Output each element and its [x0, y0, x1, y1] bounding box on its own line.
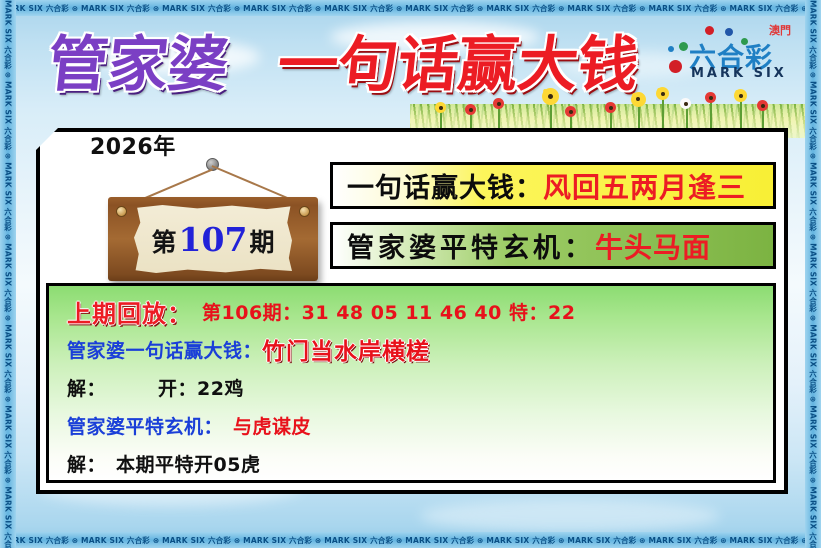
flower-red [493, 98, 504, 109]
row-tip-history: 管家婆平特玄机：与虎谋皮 [49, 406, 773, 444]
flower-red [465, 104, 476, 115]
cloud-decoration [420, 500, 720, 532]
tip-answer-value: 本期平特开05虎 [116, 450, 260, 477]
logo-dot-red [669, 60, 682, 73]
row-tip-answer: 解：本期平特开05虎 [49, 444, 773, 482]
banner-slogan-label: 一句话赢大钱： [333, 166, 543, 205]
mark-six-logo: 澳門 六合彩 MARK SIX [667, 20, 795, 86]
banner-slogan: 一句话赢大钱：风回五两月逢三 [330, 162, 776, 209]
logo-dot-teal [668, 46, 674, 52]
page-title-brand: 管家婆 [44, 30, 231, 100]
issue-suffix: 期 [249, 228, 274, 257]
logo-dot-green [679, 42, 688, 51]
banner-slogan-value: 风回五两月逢三 [543, 166, 746, 206]
poster-canvas: MARK SIX 六合彩 ⊛ MARK SIX 六合彩 ⊛ MARK SIX 六… [0, 0, 821, 548]
slogan-history-value: 竹门当水岸横槎 [262, 332, 430, 366]
last-draw-value: 第106期：31 48 05 11 46 40 特：22 [202, 298, 575, 325]
issue-text: 第107期 [152, 223, 275, 256]
slogan-answer-value: 开：22鸡 [158, 374, 244, 401]
issue-wooden-sign: 第107期 [108, 197, 318, 281]
row-last-draw: 上期回放：第106期：31 48 05 11 46 40 特：22 [49, 292, 773, 330]
banner-tip: 管家婆平特玄机：牛头马面 [330, 222, 776, 269]
issue-paper: 第107期 [134, 205, 292, 273]
tip-history-value: 与虎谋皮 [233, 412, 311, 439]
flower-yellow [734, 89, 747, 102]
flower-white [680, 98, 691, 109]
flower-yellow [631, 92, 646, 107]
flower-yellow [435, 102, 446, 113]
tip-history-label: 管家婆平特玄机： [67, 412, 223, 439]
logo-dot-red-small [705, 26, 714, 35]
slogan-answer-label: 解： [67, 374, 106, 401]
flower-red [565, 106, 576, 117]
flower-red [705, 92, 716, 103]
issue-number: 107 [179, 220, 248, 259]
logo-dot-blue [725, 28, 733, 36]
banner-tip-label: 管家婆平特玄机： [333, 226, 595, 265]
banner-tip-value: 牛头马面 [595, 226, 711, 266]
flower-red [757, 100, 768, 111]
tip-answer-label: 解： [67, 450, 106, 477]
flower-yellow [656, 87, 669, 100]
logo-name-english: MARK SIX [691, 66, 787, 81]
flower-yellow-large [542, 88, 559, 105]
decorative-border-bottom: MARK SIX 六合彩 ⊛ MARK SIX 六合彩 ⊛ MARK SIX 六… [0, 532, 821, 548]
flower-red [605, 102, 616, 113]
year-label: 2026年 [90, 129, 176, 161]
row-slogan-history: 管家婆一句话赢大钱：竹门当水岸横槎 [49, 330, 773, 368]
row-slogan-answer: 解：开：22鸡 [49, 368, 773, 406]
previous-results-panel: 上期回放：第106期：31 48 05 11 46 40 特：22 管家婆一句话… [46, 283, 776, 483]
slogan-history-label: 管家婆一句话赢大钱： [67, 336, 262, 363]
decorative-border-top: MARK SIX 六合彩 ⊛ MARK SIX 六合彩 ⊛ MARK SIX 六… [0, 0, 821, 16]
issue-prefix: 第 [152, 228, 177, 257]
last-draw-label: 上期回放： [67, 294, 192, 329]
